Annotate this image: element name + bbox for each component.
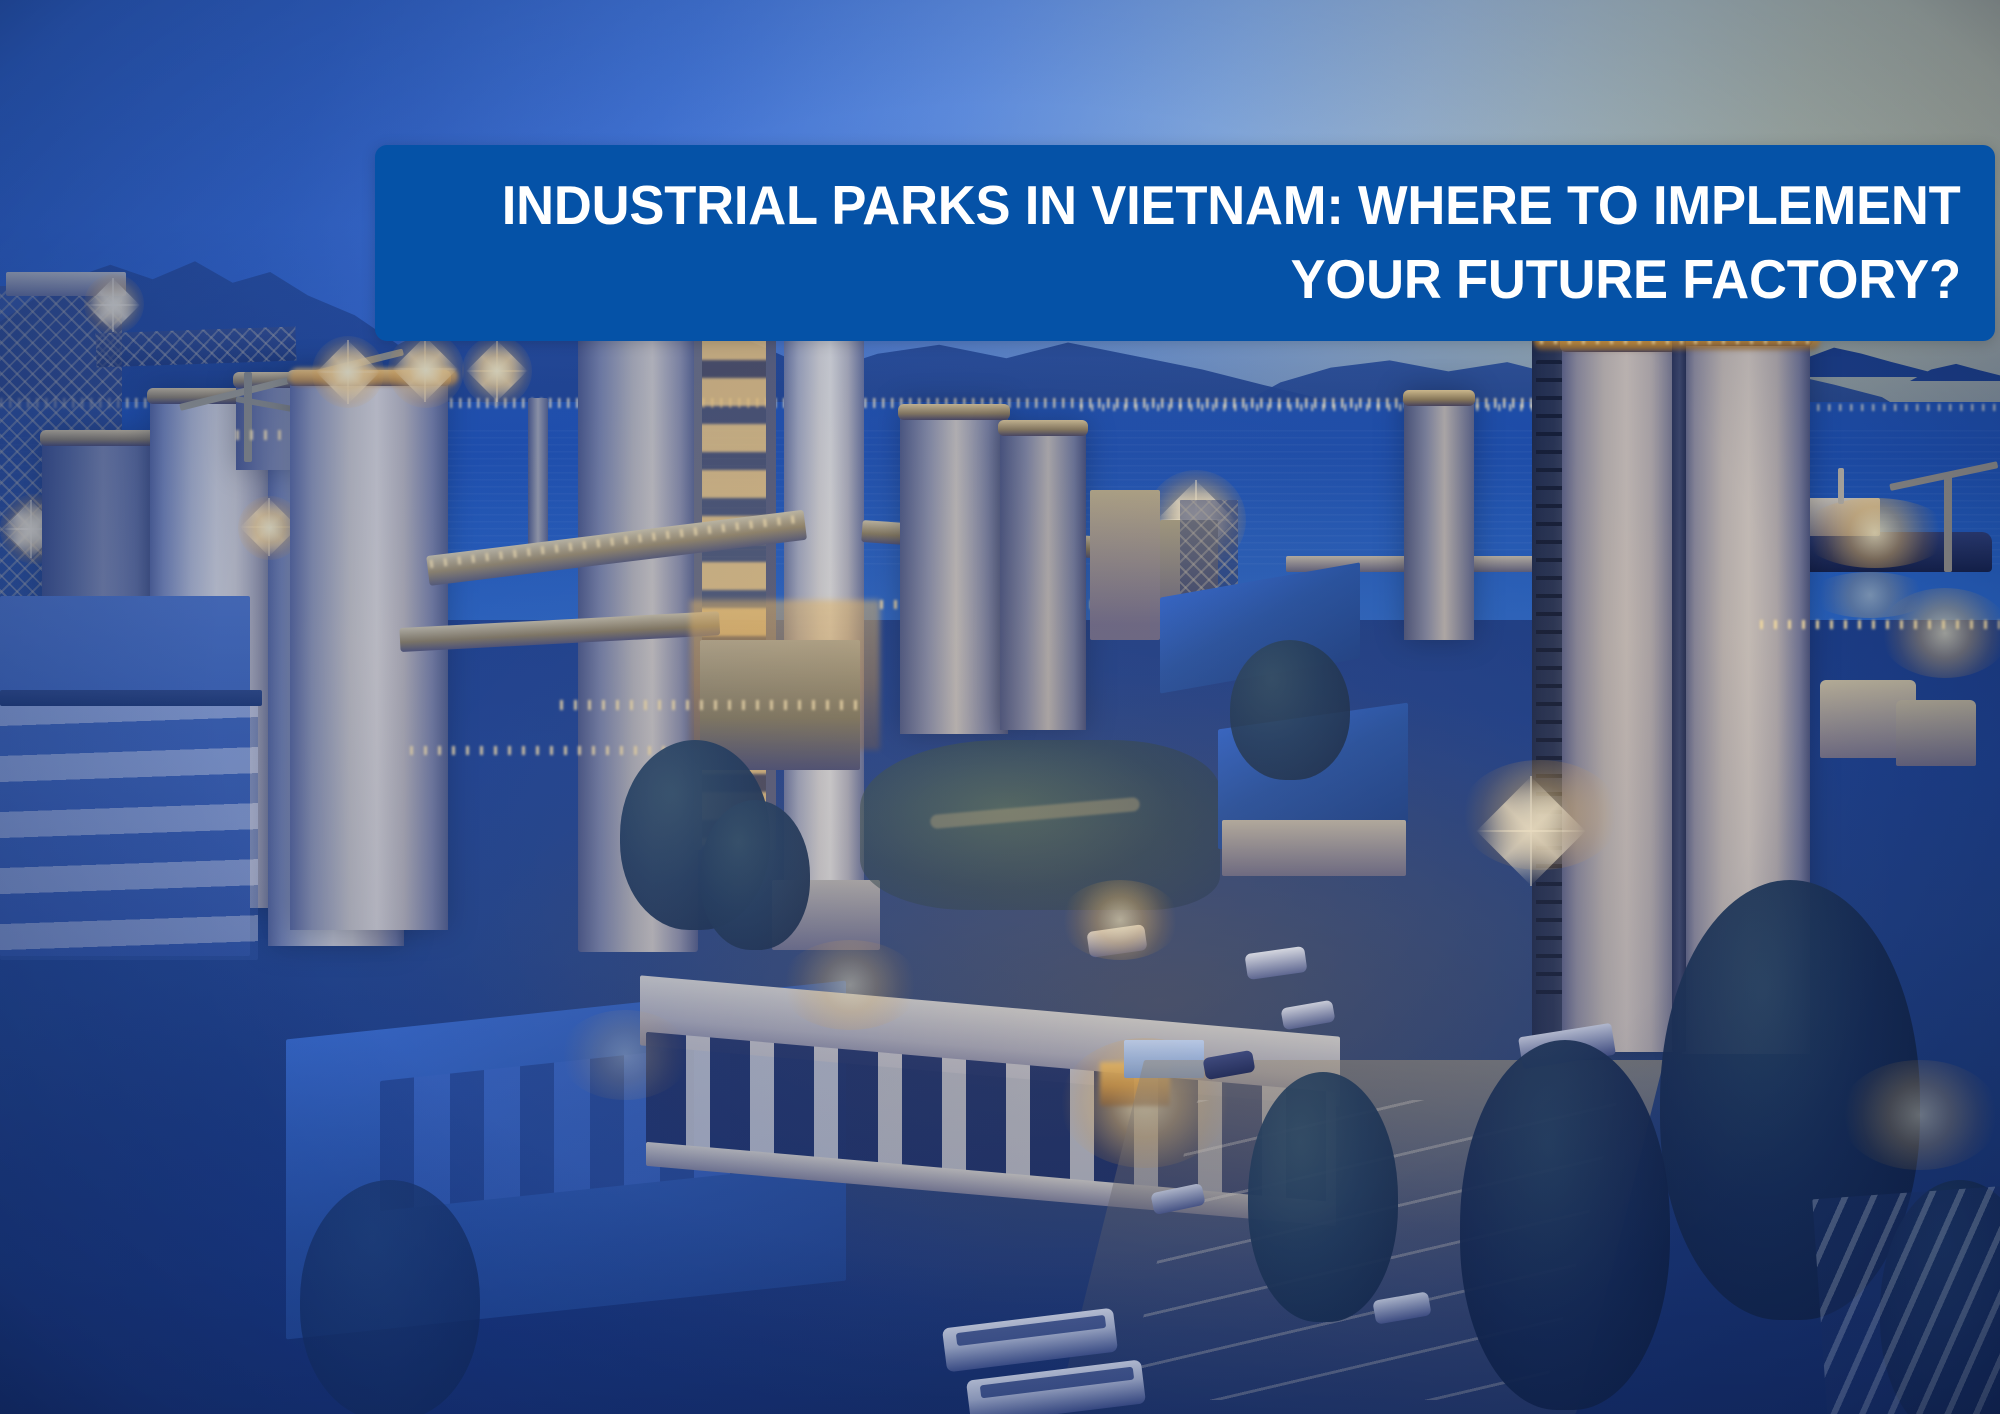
- title-line-2: YOUR FUTURE FACTORY?: [1291, 243, 1961, 317]
- lamp-row-plant-deck-1: [560, 700, 860, 710]
- hero-banner-image: INDUSTRIAL PARKS IN VIETNAM: WHERE TO IM…: [0, 0, 2000, 1414]
- warehouse-left-roof-edge: [0, 690, 262, 706]
- structure-left-top: [6, 272, 126, 296]
- silo-right-twin-seam: [1672, 336, 1686, 1052]
- lamp-deck-left: [290, 368, 458, 386]
- storage-tank-right-2: [1896, 700, 1976, 766]
- tree-2: [700, 800, 810, 950]
- port-crane-mast: [1944, 476, 1952, 572]
- tree-4: [1248, 1072, 1398, 1322]
- silo-ladder-cage: [1536, 360, 1562, 1000]
- lamp-row-plant-deck-2: [410, 746, 670, 755]
- warehouse-wall-midright: [1222, 820, 1406, 876]
- gantry-mast-left: [244, 372, 252, 462]
- title-banner: INDUSTRIAL PARKS IN VIETNAM: WHERE TO IM…: [375, 145, 1995, 341]
- silo-right-twin-a: [1562, 336, 1686, 1052]
- silo-cap: [40, 430, 167, 446]
- tree-6: [1460, 1040, 1670, 1410]
- title-line-1: INDUSTRIAL PARKS IN VIETNAM: WHERE TO IM…: [502, 169, 1961, 243]
- silo-midright-a: [900, 404, 1008, 734]
- structure-midright-1: [1090, 490, 1160, 640]
- lattice-walkway-left: [95, 327, 296, 368]
- tree-8: [300, 1180, 480, 1414]
- silo-right-back: [1404, 390, 1474, 640]
- lamp-row-right-yard: [1760, 620, 2000, 629]
- pipe-rack: [1812, 1181, 2000, 1414]
- silo-midright-b: [1000, 420, 1086, 730]
- ship-mast: [1838, 468, 1844, 504]
- silo-cap: [1403, 390, 1476, 406]
- yard-field: [860, 740, 1220, 910]
- silo-cap: [898, 404, 1010, 420]
- tree-3: [1230, 640, 1350, 780]
- silo-cap: [998, 420, 1087, 436]
- warehouse-left-facade: [0, 700, 258, 960]
- cargo-ship-hull: [1792, 532, 1992, 572]
